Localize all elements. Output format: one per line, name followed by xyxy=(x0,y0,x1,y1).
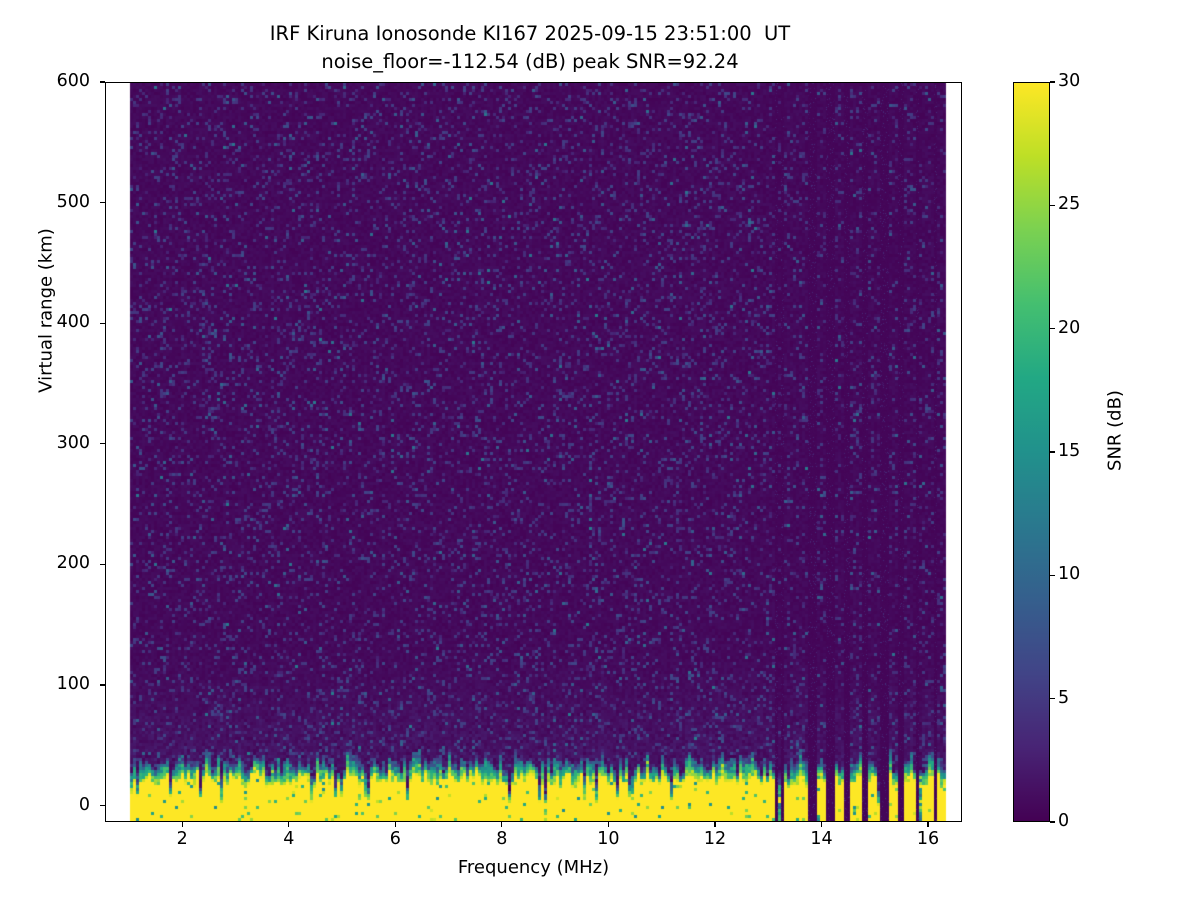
colorbar-label: SNR (dB) xyxy=(1105,316,1126,546)
x-tick-label: 4 xyxy=(259,831,319,849)
ionogram-figure: IRF Kiruna Ionosonde KI167 2025-09-15 23… xyxy=(0,0,1200,900)
colorbar-tick-label: 5 xyxy=(1058,690,1104,708)
plot-area xyxy=(105,82,962,822)
x-tick xyxy=(288,822,289,827)
x-tick xyxy=(608,822,609,827)
title-line-2: noise_floor=-112.54 (dB) peak SNR=92.24 xyxy=(0,48,1060,76)
x-tick xyxy=(714,822,715,827)
y-tick xyxy=(100,81,105,82)
colorbar-tick-label: 20 xyxy=(1058,320,1104,338)
colorbar-tick-label: 25 xyxy=(1058,196,1104,214)
colorbar-tick xyxy=(1050,205,1055,206)
y-tick xyxy=(100,564,105,565)
ionogram-heatmap xyxy=(106,83,961,821)
x-tick-label: 12 xyxy=(685,831,745,849)
x-tick xyxy=(395,822,396,827)
colorbar-gradient xyxy=(1014,83,1049,821)
y-tick xyxy=(100,443,105,444)
colorbar-tick xyxy=(1050,451,1055,452)
colorbar-tick xyxy=(1050,821,1055,822)
figure-title: IRF Kiruna Ionosonde KI167 2025-09-15 23… xyxy=(0,20,1060,76)
y-tick xyxy=(100,202,105,203)
x-axis-label: Frequency (MHz) xyxy=(105,857,962,878)
y-axis-label: Virtual range (km) xyxy=(36,181,57,441)
colorbar-tick xyxy=(1050,328,1055,329)
colorbar-tick-label: 30 xyxy=(1058,73,1104,91)
y-tick-label: 200 xyxy=(38,555,90,573)
y-tick-label: 0 xyxy=(38,797,90,815)
colorbar-tick xyxy=(1050,575,1055,576)
x-tick xyxy=(182,822,183,827)
colorbar-tick xyxy=(1050,698,1055,699)
x-tick-label: 14 xyxy=(791,831,851,849)
colorbar-tick-label: 0 xyxy=(1058,813,1104,831)
y-tick xyxy=(100,684,105,685)
x-tick-label: 6 xyxy=(365,831,425,849)
y-tick-label: 600 xyxy=(38,73,90,91)
colorbar-tick xyxy=(1050,81,1055,82)
x-tick xyxy=(501,822,502,827)
x-tick-label: 2 xyxy=(152,831,212,849)
y-tick xyxy=(100,805,105,806)
x-tick-label: 16 xyxy=(898,831,958,849)
colorbar-tick-label: 15 xyxy=(1058,443,1104,461)
x-tick-label: 8 xyxy=(472,831,532,849)
y-tick-label: 100 xyxy=(38,676,90,694)
colorbar xyxy=(1013,82,1050,822)
x-tick xyxy=(821,822,822,827)
y-tick xyxy=(100,323,105,324)
x-tick xyxy=(927,822,928,827)
title-line-1: IRF Kiruna Ionosonde KI167 2025-09-15 23… xyxy=(0,20,1060,48)
colorbar-tick-label: 10 xyxy=(1058,566,1104,584)
x-tick-label: 10 xyxy=(578,831,638,849)
